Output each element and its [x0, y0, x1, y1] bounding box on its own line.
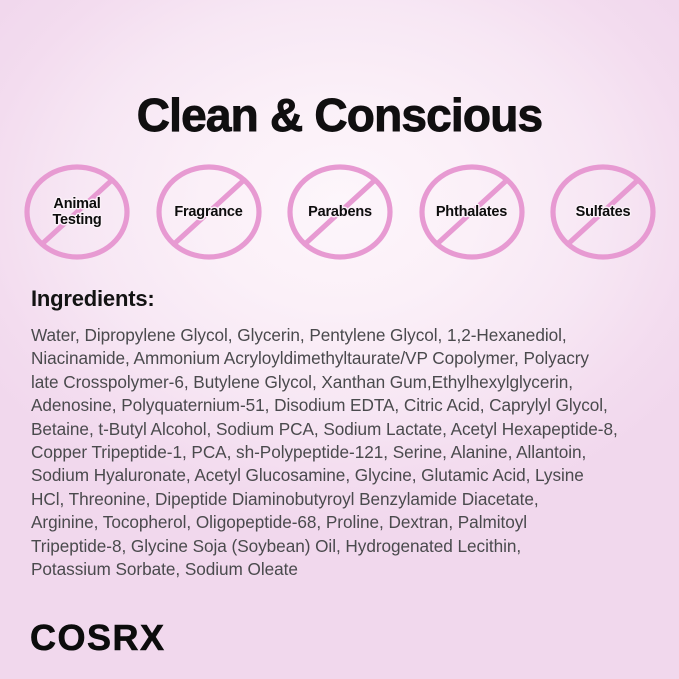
badge-parabens: Parabens	[285, 163, 395, 261]
badge-label: Phthalates	[436, 204, 507, 221]
badge-label: Fragrance	[174, 204, 242, 221]
product-info-panel: Clean & Conscious Animal Testing Fragran…	[0, 0, 679, 679]
badge-fragrance: Fragrance	[154, 163, 264, 261]
free-from-badge-row: Animal Testing Fragrance Parabens Phthal…	[22, 162, 658, 262]
badge-label: Sulfates	[576, 204, 631, 221]
brand-logo: COSRX	[30, 618, 166, 658]
ingredients-list: Water, Dipropylene Glycol, Glycerin, Pen…	[31, 324, 651, 581]
badge-label: Parabens	[308, 204, 372, 221]
page-title-container: Clean & Conscious	[0, 57, 679, 173]
page-title: Clean & Conscious	[137, 88, 543, 142]
badge-label: Animal Testing	[52, 196, 101, 229]
badge-animal-testing: Animal Testing	[22, 163, 132, 261]
badge-sulfates: Sulfates	[548, 163, 658, 261]
ingredients-heading: Ingredients:	[31, 286, 155, 312]
badge-phthalates: Phthalates	[417, 163, 527, 261]
